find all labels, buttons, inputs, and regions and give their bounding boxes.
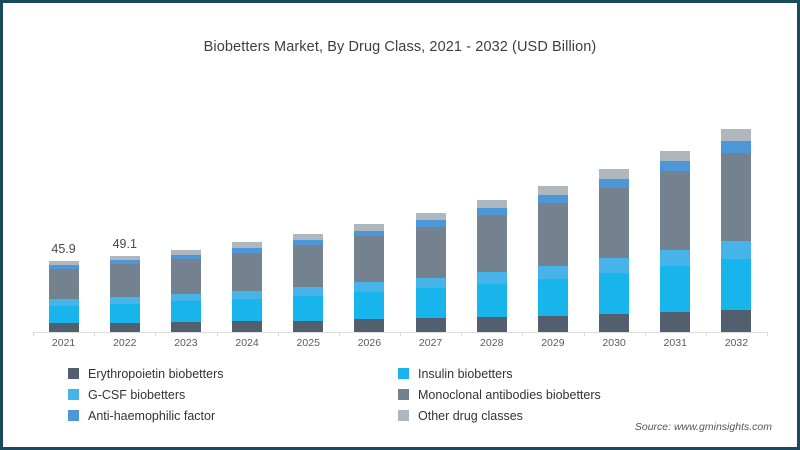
legend-label: Other drug classes <box>418 409 523 423</box>
bar-segment[interactable] <box>538 316 568 332</box>
x-axis-tick-label: 2026 <box>339 337 400 349</box>
bar-segment[interactable] <box>721 310 751 332</box>
x-axis-tick-label: 2032 <box>706 337 767 349</box>
x-axis-tickmark <box>522 332 523 336</box>
bar-value-label: 49.1 <box>113 237 137 251</box>
x-axis-tick-label: 2030 <box>584 337 645 349</box>
bar-value-label: 45.9 <box>51 242 75 256</box>
bar-segment[interactable] <box>416 288 446 318</box>
legend-label: Anti-haemophilic factor <box>88 409 215 423</box>
legend-label: Monoclonal antibodies biobetters <box>418 388 601 402</box>
x-axis-tick-label: 2029 <box>522 337 583 349</box>
x-axis-tickmark <box>33 332 34 336</box>
bar-segment[interactable] <box>599 258 629 273</box>
bar-segment[interactable] <box>293 287 323 296</box>
bar-segment[interactable] <box>171 294 201 301</box>
x-axis-tick-label: 2027 <box>400 337 461 349</box>
bar-segment[interactable] <box>477 272 507 284</box>
bar-group[interactable] <box>416 213 446 332</box>
bar-segment[interactable] <box>110 304 140 323</box>
bar-group[interactable] <box>477 200 507 332</box>
bar-group[interactable] <box>721 129 751 332</box>
bar-segment[interactable] <box>232 291 262 299</box>
bar-group[interactable] <box>171 250 201 332</box>
legend-swatch-icon <box>68 410 79 421</box>
bar-segment[interactable] <box>171 259 201 294</box>
source-attribution: Source: www.gminsights.com <box>635 421 772 433</box>
legend-label: Insulin biobetters <box>418 367 513 381</box>
bar-segment[interactable] <box>232 299 262 322</box>
legend-item[interactable]: Monoclonal antibodies biobetters <box>398 388 698 402</box>
bar-segment[interactable] <box>660 151 690 162</box>
bar-group[interactable] <box>293 234 323 332</box>
bar-segment[interactable] <box>599 169 629 179</box>
x-axis-tick-label: 2023 <box>155 337 216 349</box>
legend-swatch-icon <box>68 368 79 379</box>
bar-group[interactable] <box>660 151 690 333</box>
x-axis-tick-label: 2024 <box>217 337 278 349</box>
legend-swatch-icon <box>398 389 409 400</box>
bar-segment[interactable] <box>416 213 446 220</box>
bar-segment[interactable] <box>477 317 507 332</box>
x-axis-tickmark <box>645 332 646 336</box>
bar-segment[interactable] <box>416 318 446 332</box>
x-axis-tickmark <box>400 332 401 336</box>
x-axis-tickmark <box>155 332 156 336</box>
bar-segment[interactable] <box>721 129 751 141</box>
x-axis-tick-label: 2031 <box>645 337 706 349</box>
bar-segment[interactable] <box>721 241 751 259</box>
bar-segment[interactable] <box>660 171 690 250</box>
bar-group[interactable]: 49.1 <box>110 256 140 332</box>
legend-swatch-icon <box>68 389 79 400</box>
bar-segment[interactable] <box>477 284 507 317</box>
x-axis-tickmark <box>706 332 707 336</box>
bar-segment[interactable] <box>110 323 140 332</box>
bar-segment[interactable] <box>538 195 568 203</box>
x-axis-tickmark <box>339 332 340 336</box>
bar-segment[interactable] <box>599 314 629 332</box>
x-axis-tick-label: 2028 <box>461 337 522 349</box>
bar-segment[interactable] <box>232 321 262 332</box>
bar-group[interactable] <box>599 169 629 332</box>
bar-segment[interactable] <box>538 266 568 279</box>
bar-segment[interactable] <box>538 279 568 316</box>
x-axis-tick-label: 2025 <box>278 337 339 349</box>
bar-segment[interactable] <box>110 297 140 304</box>
bar-segment[interactable] <box>660 161 690 171</box>
chart-canvas: Biobetters Market, By Drug Class, 2021 -… <box>6 6 794 444</box>
bar-segment[interactable] <box>538 186 568 195</box>
legend-item[interactable]: Erythropoietin biobetters <box>68 367 398 381</box>
bar-segment[interactable] <box>293 296 323 321</box>
bar-segment[interactable] <box>477 208 507 215</box>
bar-segment[interactable] <box>416 278 446 289</box>
x-axis-tickmark <box>461 332 462 336</box>
x-axis-tickmark <box>584 332 585 336</box>
legend-label: Erythropoietin biobetters <box>88 367 224 381</box>
bar-segment[interactable] <box>49 269 79 299</box>
bar-segment[interactable] <box>354 319 384 332</box>
bar-segment[interactable] <box>110 264 140 297</box>
bar-segment[interactable] <box>416 227 446 278</box>
bar-segment[interactable] <box>354 236 384 282</box>
bar-group[interactable] <box>538 186 568 332</box>
x-axis-tick-label: 2022 <box>94 337 155 349</box>
bar-segment[interactable] <box>660 266 690 312</box>
legend-swatch-icon <box>398 410 409 421</box>
bar-segment[interactable] <box>49 323 79 332</box>
chart-frame: Biobetters Market, By Drug Class, 2021 -… <box>0 0 800 450</box>
bar-segment[interactable] <box>477 215 507 272</box>
bar-segment[interactable] <box>660 312 690 332</box>
x-axis-tickmark <box>217 332 218 336</box>
legend-item[interactable]: Insulin biobetters <box>398 367 698 381</box>
legend-item[interactable]: Anti-haemophilic factor <box>68 409 398 423</box>
plot-area: 45.949.1 <box>33 84 767 332</box>
bar-segment[interactable] <box>354 292 384 319</box>
bar-segment[interactable] <box>660 250 690 266</box>
legend-label: G-CSF biobetters <box>88 388 185 402</box>
bar-segment[interactable] <box>599 188 629 258</box>
x-axis-tickmark <box>278 332 279 336</box>
bar-group[interactable]: 45.9 <box>49 261 79 332</box>
bar-segment[interactable] <box>538 203 568 266</box>
x-axis-tick-label: 2021 <box>33 337 94 349</box>
bar-segment[interactable] <box>293 245 323 287</box>
bar-segment[interactable] <box>599 179 629 188</box>
bar-segment[interactable] <box>49 306 79 324</box>
legend-swatch-icon <box>398 368 409 379</box>
bar-segment[interactable] <box>599 273 629 314</box>
bar-segment[interactable] <box>293 321 323 332</box>
x-axis-tickmark <box>767 332 768 336</box>
chart-title: Biobetters Market, By Drug Class, 2021 -… <box>6 39 794 55</box>
bar-segment[interactable] <box>721 153 751 241</box>
bar-group[interactable] <box>232 242 262 332</box>
legend-item[interactable]: G-CSF biobetters <box>68 388 398 402</box>
bar-segment[interactable] <box>721 259 751 310</box>
bar-segment[interactable] <box>721 141 751 152</box>
bar-segment[interactable] <box>171 301 201 322</box>
bar-segment[interactable] <box>477 200 507 208</box>
bar-segment[interactable] <box>354 282 384 292</box>
x-axis-tickmark <box>94 332 95 336</box>
bar-group[interactable] <box>354 224 384 332</box>
bar-segment[interactable] <box>232 253 262 291</box>
x-axis-tick-labels: 2021202220232024202520262027202820292030… <box>33 337 767 357</box>
bar-segment[interactable] <box>171 322 201 332</box>
chart-legend: Erythropoietin biobettersInsulin biobett… <box>68 363 728 426</box>
